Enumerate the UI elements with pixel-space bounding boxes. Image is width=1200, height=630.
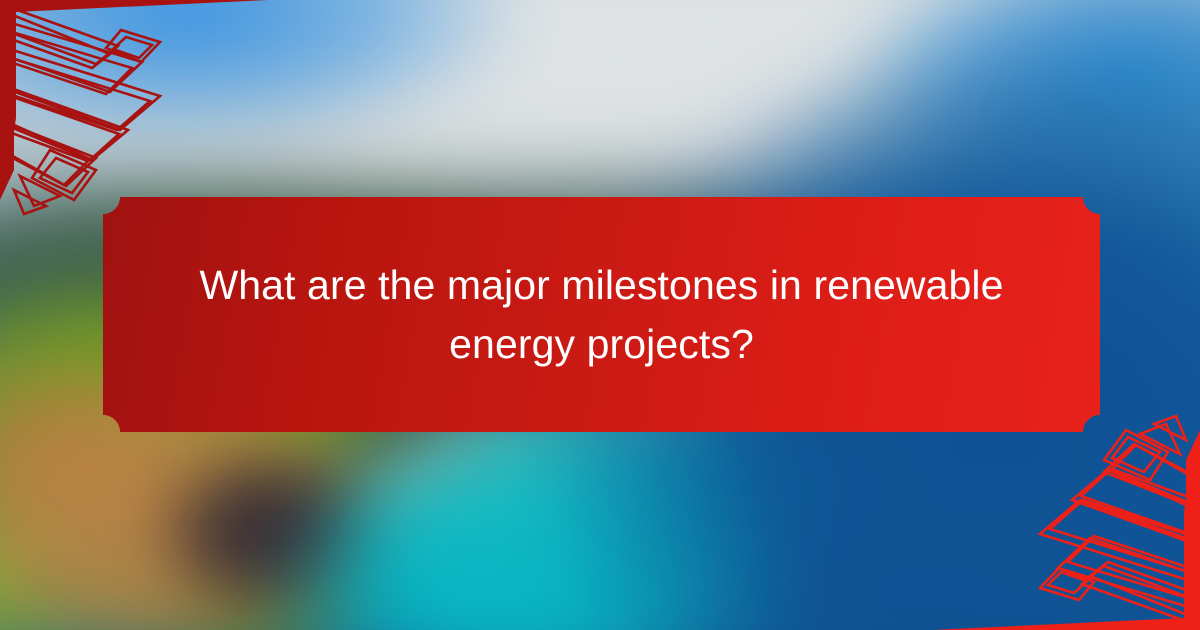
share-card-canvas: What are the major milestones in renewab…: [0, 0, 1200, 630]
question-banner: What are the major milestones in renewab…: [103, 197, 1100, 432]
page-title: What are the major milestones in renewab…: [103, 197, 1100, 432]
